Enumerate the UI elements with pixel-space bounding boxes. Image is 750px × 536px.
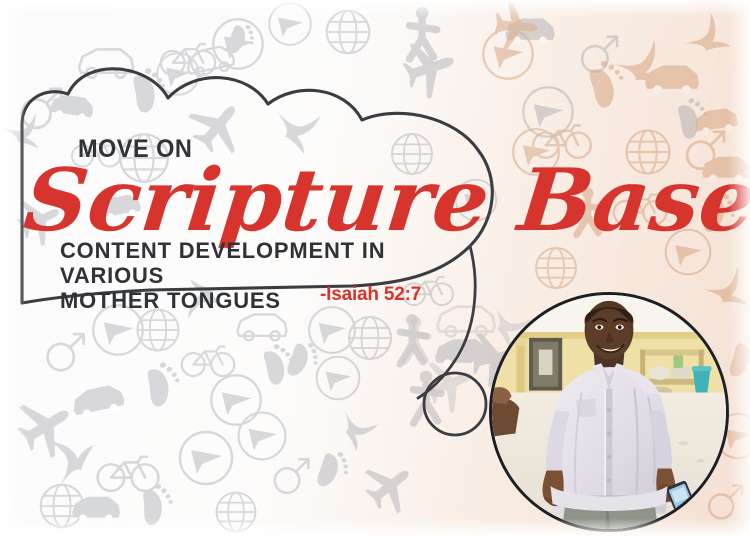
headline-block: MOVE ON Scripture Based CONTENT DEVELOPM…: [0, 0, 470, 320]
poster-canvas: MOVE ON Scripture Based CONTENT DEVELOPM…: [0, 0, 750, 536]
verse-reference: -Isaiah 52:7: [320, 284, 421, 306]
portrait-photo: [489, 292, 729, 532]
script-text: Scripture Based: [20, 149, 750, 251]
